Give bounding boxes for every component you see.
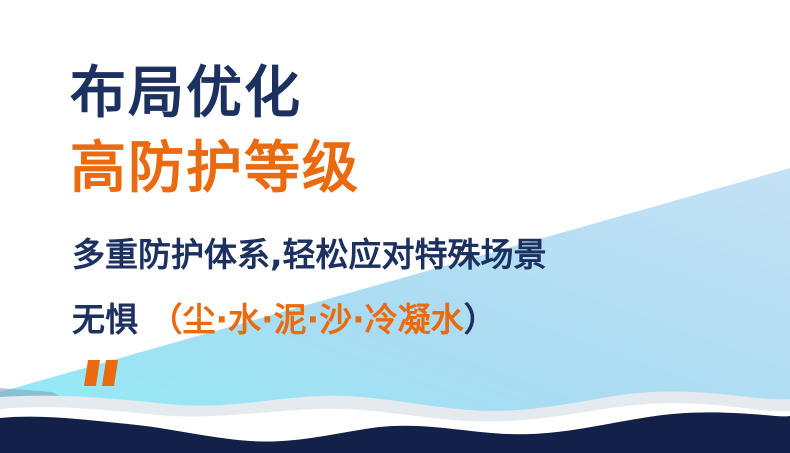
paren-open: （	[150, 300, 183, 339]
protection-items-list: 尘·水·泥·沙·冷凝水	[183, 300, 464, 339]
subtitle-line-2: 无惧 （尘·水·泥·沙·冷凝水）	[72, 303, 497, 336]
poster-content: 布局优化 高防护等级 多重防护体系,轻松应对特殊场景 无惧 （尘·水·泥·沙·冷…	[0, 0, 790, 453]
double-quote-icon	[84, 358, 124, 390]
headline-primary: 布局优化	[70, 66, 302, 122]
poster-canvas: 布局优化 高防护等级 多重防护体系,轻松应对特殊场景 无惧 （尘·水·泥·沙·冷…	[0, 0, 790, 453]
subtitle-prefix: 无惧	[72, 300, 138, 339]
subtitle-line-1: 多重防护体系,轻松应对特殊场景	[72, 238, 547, 271]
paren-close: ）	[464, 300, 497, 339]
subtitle-spacer	[138, 300, 150, 339]
headline-secondary: 高防护等级	[70, 141, 360, 197]
